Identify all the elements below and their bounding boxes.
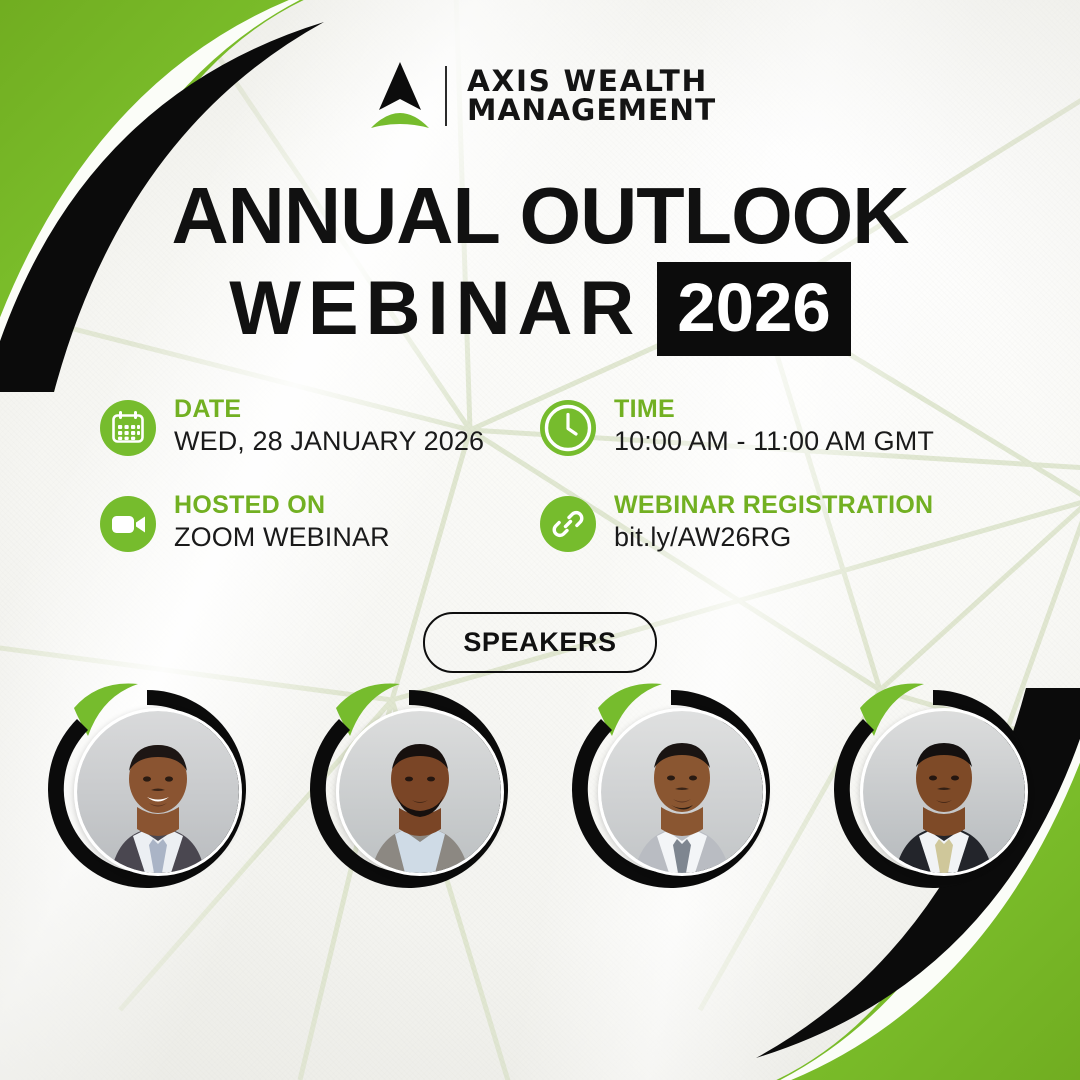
title-line-2: WEBINAR: [229, 271, 641, 347]
event-details: DATE WED, 28 JANUARY 2026 TIME 10:00 AM …: [100, 396, 990, 588]
detail-value: ZOOM WEBINAR: [174, 523, 390, 552]
speakers-heading: SPEAKERS: [0, 612, 1080, 673]
speaker-card-3: [576, 690, 766, 880]
speaker-card-4: [838, 690, 1028, 880]
video-camera-icon: [100, 496, 156, 552]
logo-text-line2: MANAGEMENT: [467, 96, 716, 125]
speaker-card-1: [52, 690, 242, 880]
detail-date: DATE WED, 28 JANUARY 2026: [100, 396, 540, 492]
brand-logo: AXIS WEALTH MANAGEMENT: [0, 58, 1080, 134]
detail-hosted-on: HOSTED ON ZOOM WEBINAR: [100, 492, 540, 588]
detail-value: WED, 28 JANUARY 2026: [174, 427, 484, 456]
calendar-icon: [100, 400, 156, 456]
detail-registration[interactable]: WEBINAR REGISTRATION bit.ly/AW26RG: [540, 492, 990, 588]
title-year-badge: 2026: [657, 262, 851, 356]
speaker-portrait-3: [598, 708, 766, 876]
speaker-card-2: [314, 690, 504, 880]
title-line-1: ANNUAL OUTLOOK: [5, 176, 1074, 256]
page-title: ANNUAL OUTLOOK WEBINAR 2026: [0, 176, 1080, 356]
speakers-row: [0, 690, 1080, 880]
link-icon: [540, 496, 596, 552]
detail-time: TIME 10:00 AM - 11:00 AM GMT: [540, 396, 990, 492]
speaker-portrait-2: [336, 708, 504, 876]
webinar-poster: AXIS WEALTH MANAGEMENT ANNUAL OUTLOOK WE…: [0, 0, 1080, 1080]
logo-divider: [445, 66, 447, 126]
registration-link[interactable]: bit.ly/AW26RG: [614, 523, 933, 552]
clock-icon: [540, 400, 596, 456]
speaker-portrait-1: [74, 708, 242, 876]
logo-text-line1: AXIS WEALTH: [467, 67, 716, 96]
detail-label: HOSTED ON: [174, 492, 390, 519]
axis-arrow-logo-icon: [369, 58, 431, 134]
detail-label: DATE: [174, 396, 484, 423]
speakers-pill: SPEAKERS: [423, 612, 656, 673]
detail-label: WEBINAR REGISTRATION: [614, 492, 933, 519]
detail-value: 10:00 AM - 11:00 AM GMT: [614, 427, 934, 456]
detail-label: TIME: [614, 396, 934, 423]
speaker-portrait-4: [860, 708, 1028, 876]
